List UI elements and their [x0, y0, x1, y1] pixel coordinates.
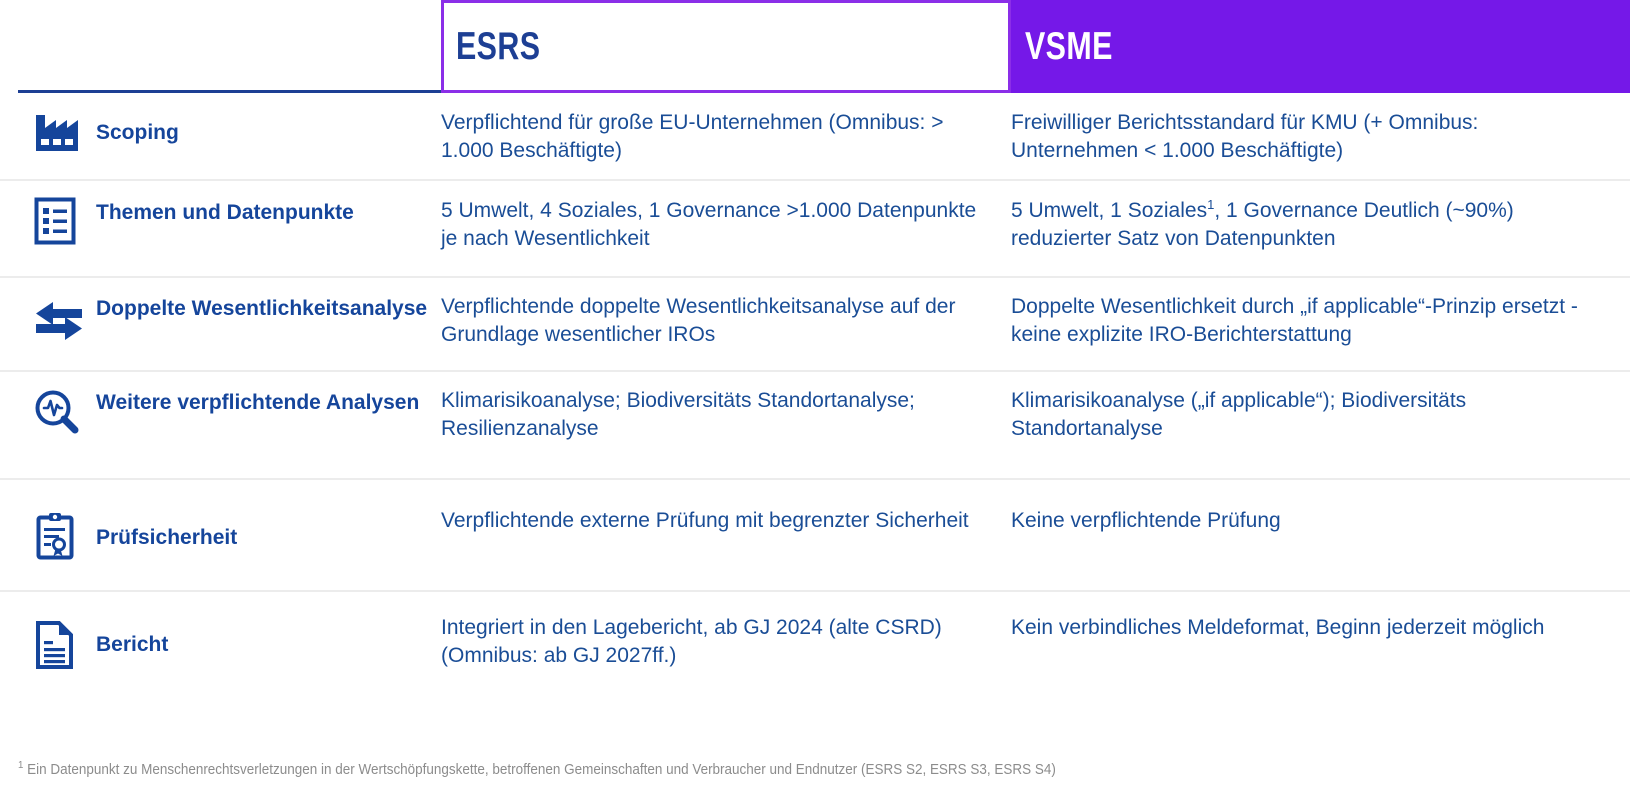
row-label: Prüfsicherheit: [96, 507, 237, 551]
row-label-cell: Scoping: [0, 109, 441, 151]
row-label-cell: Prüfsicherheit: [0, 507, 441, 561]
row-cell-vsme: Klimarisikoanalyse („if applicable“); Bi…: [1011, 387, 1630, 443]
esrs-text: 5 Umwelt, 4 Soziales, 1 Governance >1.00…: [441, 197, 985, 253]
checklist-document-icon: [18, 197, 96, 245]
row-cell-esrs: Klimarisikoanalyse; Biodiversitäts Stand…: [441, 387, 1011, 443]
header-title-vsme: VSME: [1025, 25, 1113, 69]
vsme-text: 5 Umwelt, 1 Soziales1, 1 Governance Deut…: [1011, 197, 1600, 253]
row-cell-esrs: Verpflichtende externe Prüfung mit begre…: [441, 507, 1011, 535]
esrs-text: Klimarisikoanalyse; Biodiversitäts Stand…: [441, 387, 985, 443]
table-row: Themen und Datenpunkte 5 Umwelt, 4 Sozia…: [0, 181, 1630, 278]
row-label: Themen und Datenpunkte: [96, 197, 354, 226]
row-label-cell: Bericht: [0, 614, 441, 670]
row-cell-vsme: Doppelte Wesentlichkeit durch „if applic…: [1011, 293, 1630, 349]
row-cell-esrs: Verpflichtende doppelte Wesentlichkeitsa…: [441, 293, 1011, 349]
footnote-text: Ein Datenpunkt zu Menschenrechtsverletzu…: [27, 762, 1056, 778]
row-cell-vsme: Keine verpflichtende Prüfung: [1011, 507, 1630, 535]
row-label: Weitere verpflichtende Analysen: [96, 387, 419, 416]
table-row: Prüfsicherheit Verpflichtende externe Pr…: [0, 480, 1630, 592]
row-label-cell: Weitere verpflichtende Analysen: [0, 387, 441, 435]
vsme-text-part-1: 5 Umwelt, 1 Soziales: [1011, 199, 1207, 222]
clipboard-certificate-icon: [18, 507, 96, 561]
row-label: Doppelte Wesentlichkeitsanalyse: [96, 293, 427, 322]
table-header-row: ESRS VSME: [0, 0, 1630, 93]
table-row: Weitere verpflichtende Analysen Klimaris…: [0, 372, 1630, 480]
comparison-table-page: ESRS VSME Scoping Verpflichte: [0, 0, 1630, 786]
esrs-text: Integriert in den Lagebericht, ab GJ 202…: [441, 614, 985, 670]
row-cell-esrs: 5 Umwelt, 4 Soziales, 1 Governance >1.00…: [441, 197, 1011, 253]
esrs-text: Verpflichtend für große EU-Unternehmen (…: [441, 109, 985, 165]
header-title-esrs: ESRS: [456, 25, 540, 69]
bidirectional-arrows-icon: [18, 293, 96, 343]
table-row: Scoping Verpflichtend für große EU-Unter…: [0, 93, 1630, 181]
vsme-text: Klimarisikoanalyse („if applicable“); Bi…: [1011, 387, 1600, 443]
header-label-column: [0, 0, 441, 93]
vsme-text: Keine verpflichtende Prüfung: [1011, 507, 1600, 535]
vsme-text: Kein verbindliches Meldeformat, Beginn j…: [1011, 614, 1600, 642]
header-cell-esrs: ESRS: [441, 0, 1011, 93]
row-label-cell: Doppelte Wesentlichkeitsanalyse: [0, 293, 441, 343]
document-page-icon: [18, 614, 96, 670]
row-label: Bericht: [96, 614, 168, 658]
factory-icon: [18, 109, 96, 151]
table-row: Bericht Integriert in den Lagebericht, a…: [0, 592, 1630, 700]
row-label-cell: Themen und Datenpunkte: [0, 197, 441, 245]
esrs-text: Verpflichtende doppelte Wesentlichkeitsa…: [441, 293, 985, 349]
row-label: Scoping: [96, 109, 179, 146]
footnote: 1 Ein Datenpunkt zu Menschenrechtsverlet…: [18, 762, 1056, 778]
vsme-text: Freiwilliger Berichtsstandard für KMU (+…: [1011, 109, 1600, 165]
vsme-text: Doppelte Wesentlichkeit durch „if applic…: [1011, 293, 1600, 349]
row-cell-vsme: Kein verbindliches Meldeformat, Beginn j…: [1011, 614, 1630, 642]
row-cell-vsme: 5 Umwelt, 1 Soziales1, 1 Governance Deut…: [1011, 197, 1630, 253]
row-cell-esrs: Verpflichtend für große EU-Unternehmen (…: [441, 109, 1011, 165]
footnote-marker: 1: [18, 760, 23, 771]
table-row: Doppelte Wesentlichkeitsanalyse Verpflic…: [0, 278, 1630, 372]
esrs-text: Verpflichtende externe Prüfung mit begre…: [441, 507, 985, 535]
row-cell-vsme: Freiwilliger Berichtsstandard für KMU (+…: [1011, 109, 1630, 165]
magnifier-pulse-icon: [18, 387, 96, 435]
table-body: Scoping Verpflichtend für große EU-Unter…: [0, 93, 1630, 700]
header-cell-vsme: VSME: [1011, 0, 1630, 93]
row-cell-esrs: Integriert in den Lagebericht, ab GJ 202…: [441, 614, 1011, 670]
